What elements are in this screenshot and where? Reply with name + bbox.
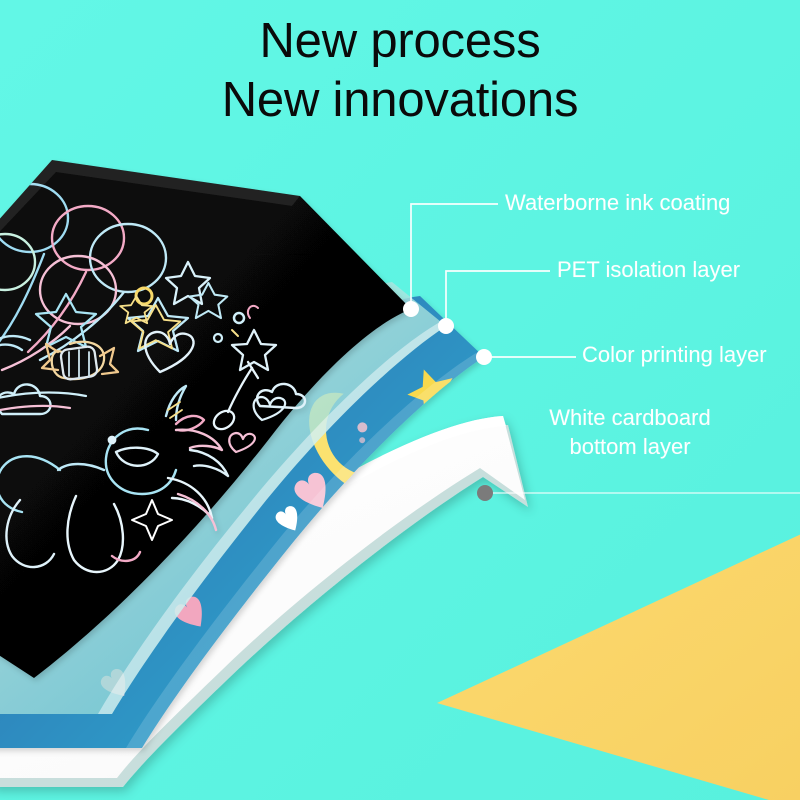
callout-label-color-printing-layer: Color printing layer <box>582 340 767 369</box>
callout-dot-color-printing[interactable] <box>476 349 492 365</box>
poster-canvas: New process New innovations Waterborne i… <box>0 0 800 800</box>
callout-dot-white-cardboard[interactable] <box>477 485 493 501</box>
callout-dot-pet[interactable] <box>438 318 454 334</box>
callout-dot-waterborne[interactable] <box>403 301 419 317</box>
callout-label-pet-isolation-layer: PET isolation layer <box>557 255 740 284</box>
callout-label-white-cardboard-bottom-layer: White cardboard bottom layer <box>500 403 760 461</box>
callout-label-waterborne-ink-coating: Waterborne ink coating <box>505 188 730 217</box>
page-title: New process New innovations <box>0 12 800 130</box>
